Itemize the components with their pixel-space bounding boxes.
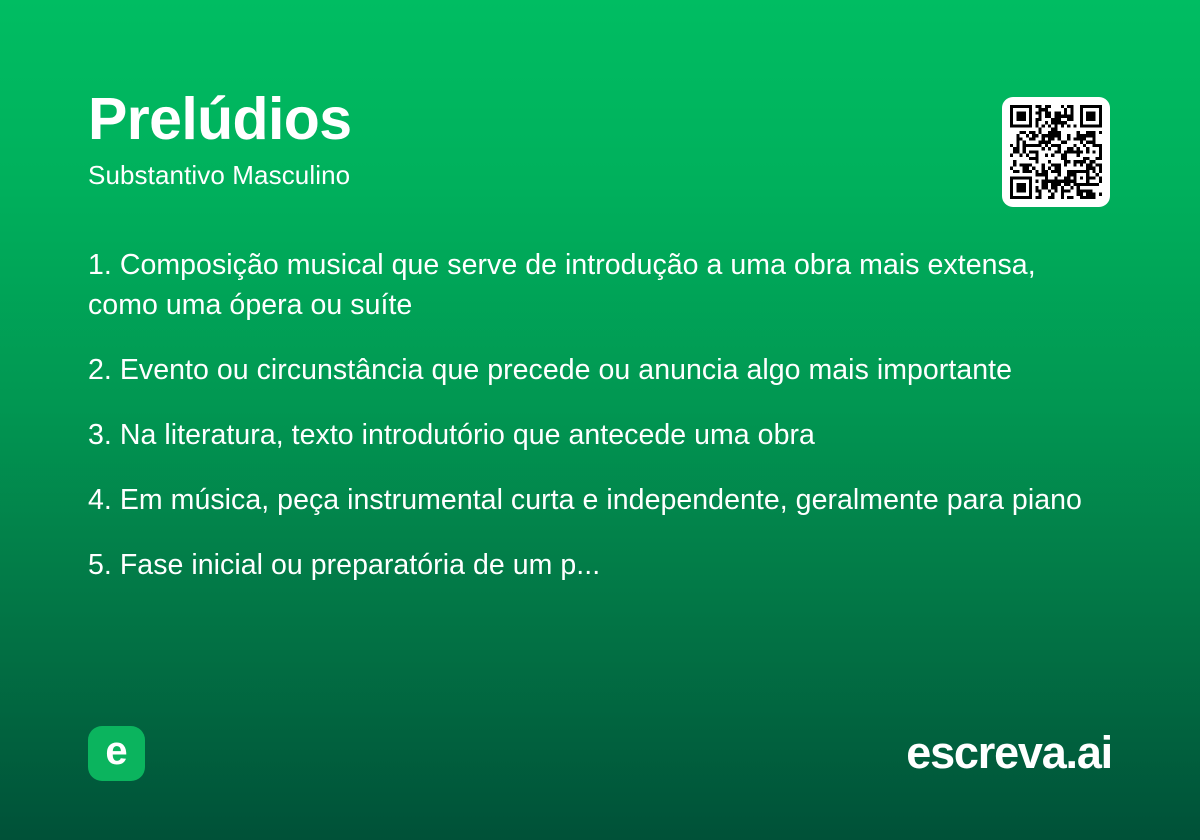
definition-item: 5. Fase inicial ou preparatória de um p.… (88, 545, 1100, 585)
definition-list: 1. Composição musical que serve de intro… (88, 245, 1100, 585)
definition-item: 2. Evento ou circunstância que precede o… (88, 350, 1100, 390)
dictionary-card: Prelúdios Substantivo Masculino 1. Compo… (0, 0, 1200, 840)
definition-item: 1. Composição musical que serve de intro… (88, 245, 1100, 325)
definition-item: 4. Em música, peça instrumental curta e … (88, 480, 1100, 520)
brand-logo-letter: e (105, 731, 127, 771)
qr-code-icon (1010, 105, 1102, 199)
word-class-label: Substantivo Masculino (88, 160, 1112, 190)
definition-item: 3. Na literatura, texto introdutório que… (88, 415, 1100, 455)
card-footer: e escreva.ai (88, 724, 1112, 782)
page-title: Prelúdios (88, 88, 1112, 150)
card-header: Prelúdios Substantivo Masculino (88, 88, 1112, 190)
brand-logo[interactable]: e (88, 726, 145, 781)
qr-code-card[interactable] (1002, 97, 1110, 207)
brand-name: escreva.ai (906, 730, 1112, 776)
